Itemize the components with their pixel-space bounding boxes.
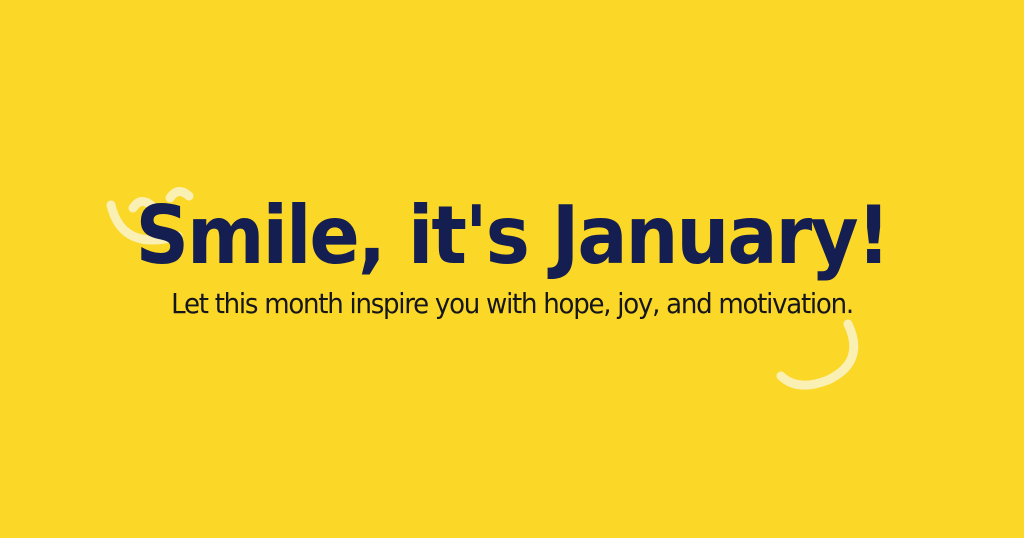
poster-text-block: Smile, it's January! Let this month insp…: [0, 0, 1024, 538]
poster-canvas: Smile, it's January! Let this month insp…: [0, 0, 1024, 538]
page-subtitle: Let this month inspire you with hope, jo…: [36, 290, 988, 318]
page-title: Smile, it's January!: [36, 196, 988, 276]
